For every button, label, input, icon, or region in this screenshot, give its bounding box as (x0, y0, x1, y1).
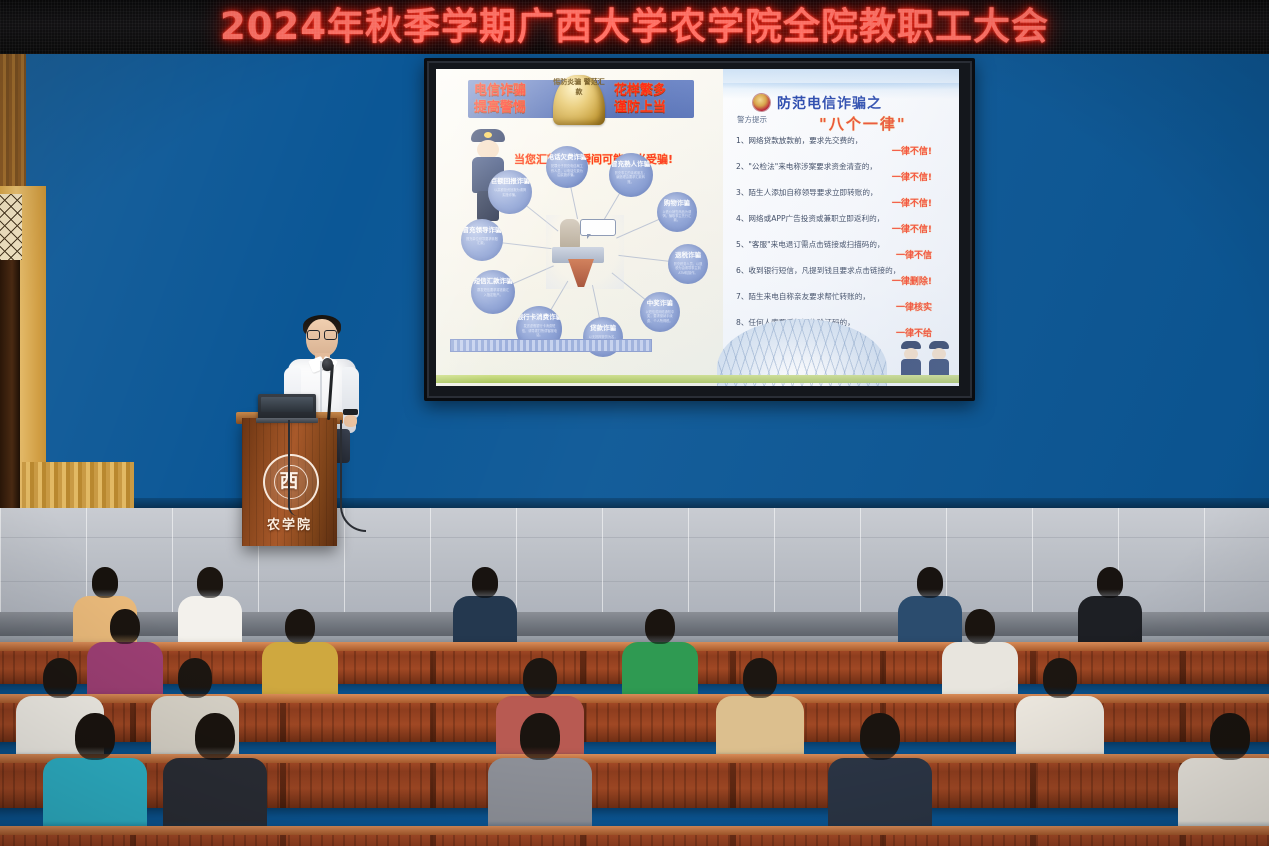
fraud-type-body: 群发短信要求将钱款汇入指定账户。 (471, 286, 515, 297)
seat-divider (730, 756, 736, 808)
center-illustration (546, 215, 624, 289)
fraud-type-label: 冒充熟人诈骗 (609, 160, 653, 169)
fraud-type-bubble: 冒充熟人诈骗冒充事主的亲戚朋友，编造理由要求汇款转账。 (609, 153, 653, 197)
rule-item: 5、"客服"来电退订需点击链接或扫描码的，一律不信 (736, 239, 948, 262)
fraud-type-label: 银行卡消费诈骗 (516, 313, 562, 322)
slide-footer-strip (450, 339, 652, 352)
audience-member-head (75, 713, 115, 760)
fraud-type-label: 购物诈骗 (657, 199, 697, 208)
fraud-type-bubble: 短信汇款诈骗群发短信要求将钱款汇入指定账户。 (471, 270, 515, 314)
audience-member-head (197, 567, 223, 598)
police-emblem-icon (753, 94, 770, 111)
fraud-type-bubble: 购物诈骗以低价销售商品为诱饵，骗取事主先行汇款。 (657, 192, 697, 232)
fraud-type-body: 以高额投资回报为诱饵实施诈骗。 (488, 186, 532, 197)
rule-item: 4、网络或APP广告投资或兼职立即返利的，一律不信! (736, 213, 948, 236)
microphone-icon (322, 358, 333, 371)
rule-answer: 一律核实 (736, 302, 948, 314)
fraud-type-label: 短信汇款诈骗 (471, 277, 515, 286)
fraud-type-label: 退税诈骗 (668, 251, 708, 260)
right-panel-title: 防范电信诈骗之 (777, 93, 882, 113)
projection-screen-frame: 电信诈骗 提高警惕 花样繁多 谨防上当 惕防炎骗 警范汇款 当您汇款的一瞬间可能… (424, 58, 975, 401)
seat-divider (1030, 756, 1036, 808)
led-banner: 2024年秋季学期广西大学农学院全院教职工大会 (0, 0, 1269, 54)
slide-title-4: 谨防上当 (614, 99, 666, 116)
rule-question: 5、"客服"来电退订需点击链接或扫描码的， (736, 239, 948, 250)
left-dark-panel (0, 260, 20, 526)
illustration-person (560, 219, 580, 249)
audience-member-head (195, 713, 235, 760)
fraud-type-body: 冒充事主的亲戚朋友，编造理由要求汇款转账。 (609, 169, 653, 184)
fraud-type-bubble: 退税诈骗冒充税务人员，以退税为由诱导事主到ATM机操作。 (668, 244, 708, 284)
fraud-type-body: 冒充税务人员，以退税为由诱导事主到ATM机操作。 (668, 260, 708, 275)
left-wood-panel-upper (0, 54, 26, 194)
auditorium-scene: 2024年秋季学期广西大学农学院全院教职工大会 电信诈骗 提高警惕 花样繁多 谨… (0, 0, 1269, 846)
rule-question: 2、"公检法"来电称涉案要求资金清查的， (736, 161, 948, 172)
lattice-window (0, 194, 22, 260)
slide-title-1: 电信诈骗 (474, 82, 526, 99)
laptop-base (256, 418, 318, 423)
eight-rules-list: 1、网络贷款放款前，要求先交费的，一律不信!2、"公检法"来电称涉案要求资金清查… (736, 135, 948, 343)
audience-member-head (860, 713, 900, 760)
fraud-type-bubble: 中奖诈骗以短信或网络通知中奖，要求缴纳手续费、个人所得税。 (640, 292, 680, 332)
rule-answer: 一律不信! (736, 198, 948, 210)
audience-member-head (43, 658, 77, 698)
audience-member-head (110, 609, 140, 644)
rule-question: 1、网络贷款放款前，要求先交费的， (736, 135, 948, 146)
rule-answer: 一律不信! (736, 172, 948, 184)
audience-seating (0, 600, 1269, 846)
audience-member-head (92, 567, 118, 598)
fraud-type-label: 电话欠费诈骗 (546, 153, 588, 162)
rule-question: 4、网络或APP广告投资或兼职立即返利的， (736, 213, 948, 224)
rule-answer: 一律不信 (736, 250, 948, 262)
fraud-type-label: 中奖诈骗 (640, 299, 680, 308)
audience-member-head (1210, 713, 1250, 760)
audience-member-head (645, 609, 675, 644)
right-panel-subtitle: "八个一律" (819, 113, 907, 134)
slide-bottom-strip (436, 375, 959, 383)
audience-member-head (472, 567, 498, 598)
audience-member-head (743, 658, 777, 698)
fraud-type-body: 发送虚假银行卡消费短信，诱导拨打所谓客服电话。 (516, 322, 562, 337)
podium-label: 农学院 (248, 514, 331, 533)
fraud-type-body: 冒充单位领导要求转账汇款。 (461, 235, 503, 246)
rule-item: 1、网络贷款放款前，要求先交费的，一律不信! (736, 135, 948, 158)
audience-member-head (1043, 658, 1077, 698)
rule-answer: 一律删除! (736, 276, 948, 288)
desk-ledge (0, 826, 1269, 835)
rule-item: 6、收到银行短信，凡提到钱且要求点击链接的，一律删除! (736, 265, 948, 288)
fraud-type-body: 以短信或网络通知中奖，要求缴纳手续费、个人所得税。 (640, 308, 680, 323)
fraud-type-body: 犯罪分子冒充电信局工作人员，以电话欠费为由实施诈骗。 (546, 162, 588, 177)
seat-divider (430, 756, 436, 808)
seat-divider (280, 756, 286, 808)
rule-item: 7、陌生来电自称亲友要求帮忙转账的，一律核实 (736, 291, 948, 314)
cable-left (288, 420, 298, 516)
fraud-type-bubble: 冒充领导诈骗冒充单位领导要求转账汇款。 (461, 219, 503, 261)
illustration-funnel (568, 259, 594, 287)
fraud-type-label: 冒充领导诈骗 (461, 226, 503, 235)
audience-member-head (523, 658, 557, 698)
rule-question: 7、陌生来电自称亲友要求帮忙转账的， (736, 291, 948, 302)
laptop-screen (261, 397, 313, 412)
slide-left-panel: 电信诈骗 提高警惕 花样繁多 谨防上当 惕防炎骗 警范汇款 当您汇款的一瞬间可能… (436, 69, 723, 386)
audience-member-head (1097, 567, 1123, 598)
audience-member-head (178, 658, 212, 698)
slide-title-2: 提高警惕 (474, 99, 526, 116)
projection-screen: 电信诈骗 提高警惕 花样繁多 谨防上当 惕防炎骗 警范汇款 当您汇款的一瞬间可能… (436, 69, 959, 386)
rule-question: 3、陌生人添加自称领导要求立即转账的， (736, 187, 948, 198)
audience-member-head (917, 567, 943, 598)
rule-item: 2、"公检法"来电称涉案要求资金清查的，一律不信! (736, 161, 948, 184)
bell-text: 惕防炎骗 警范汇款 (553, 77, 605, 97)
fraud-type-label: 贷款诈骗 (583, 324, 623, 333)
glasses-icon (307, 330, 337, 338)
fraud-type-label: 巨额回报诈骗 (488, 177, 532, 186)
fraud-type-bubble: 巨额回报诈骗以高额投资回报为诱饵实施诈骗。 (488, 170, 532, 214)
rule-answer: 一律不信! (736, 224, 948, 236)
fraud-type-bubble: 电话欠费诈骗犯罪分子冒充电信局工作人员，以电话欠费为由实施诈骗。 (546, 146, 588, 188)
fraud-type-body: 以低价销售商品为诱饵，骗取事主先行汇款。 (657, 208, 697, 223)
laptop[interactable] (258, 394, 316, 420)
slide-title-3: 花样繁多 (614, 82, 666, 99)
audience-member-head (520, 713, 560, 760)
illustration-speech-bubble (580, 219, 616, 236)
audience-member-head (285, 609, 315, 644)
rule-question: 6、收到银行短信，凡提到钱且要求点击链接的， (736, 265, 948, 276)
rule-item: 3、陌生人添加自称领导要求立即转账的，一律不信! (736, 187, 948, 210)
cable-right (340, 420, 366, 532)
rule-answer: 一律不信! (736, 146, 948, 158)
right-panel-hint: 警方提示 (737, 114, 767, 125)
audience-member-head (965, 609, 995, 644)
led-banner-text: 2024年秋季学期广西大学农学院全院教职工大会 (0, 2, 1269, 52)
slide-right-panel: 防范电信诈骗之 "八个一律" 警方提示 1、网络贷款放款前，要求先交费的，一律不… (723, 69, 959, 386)
